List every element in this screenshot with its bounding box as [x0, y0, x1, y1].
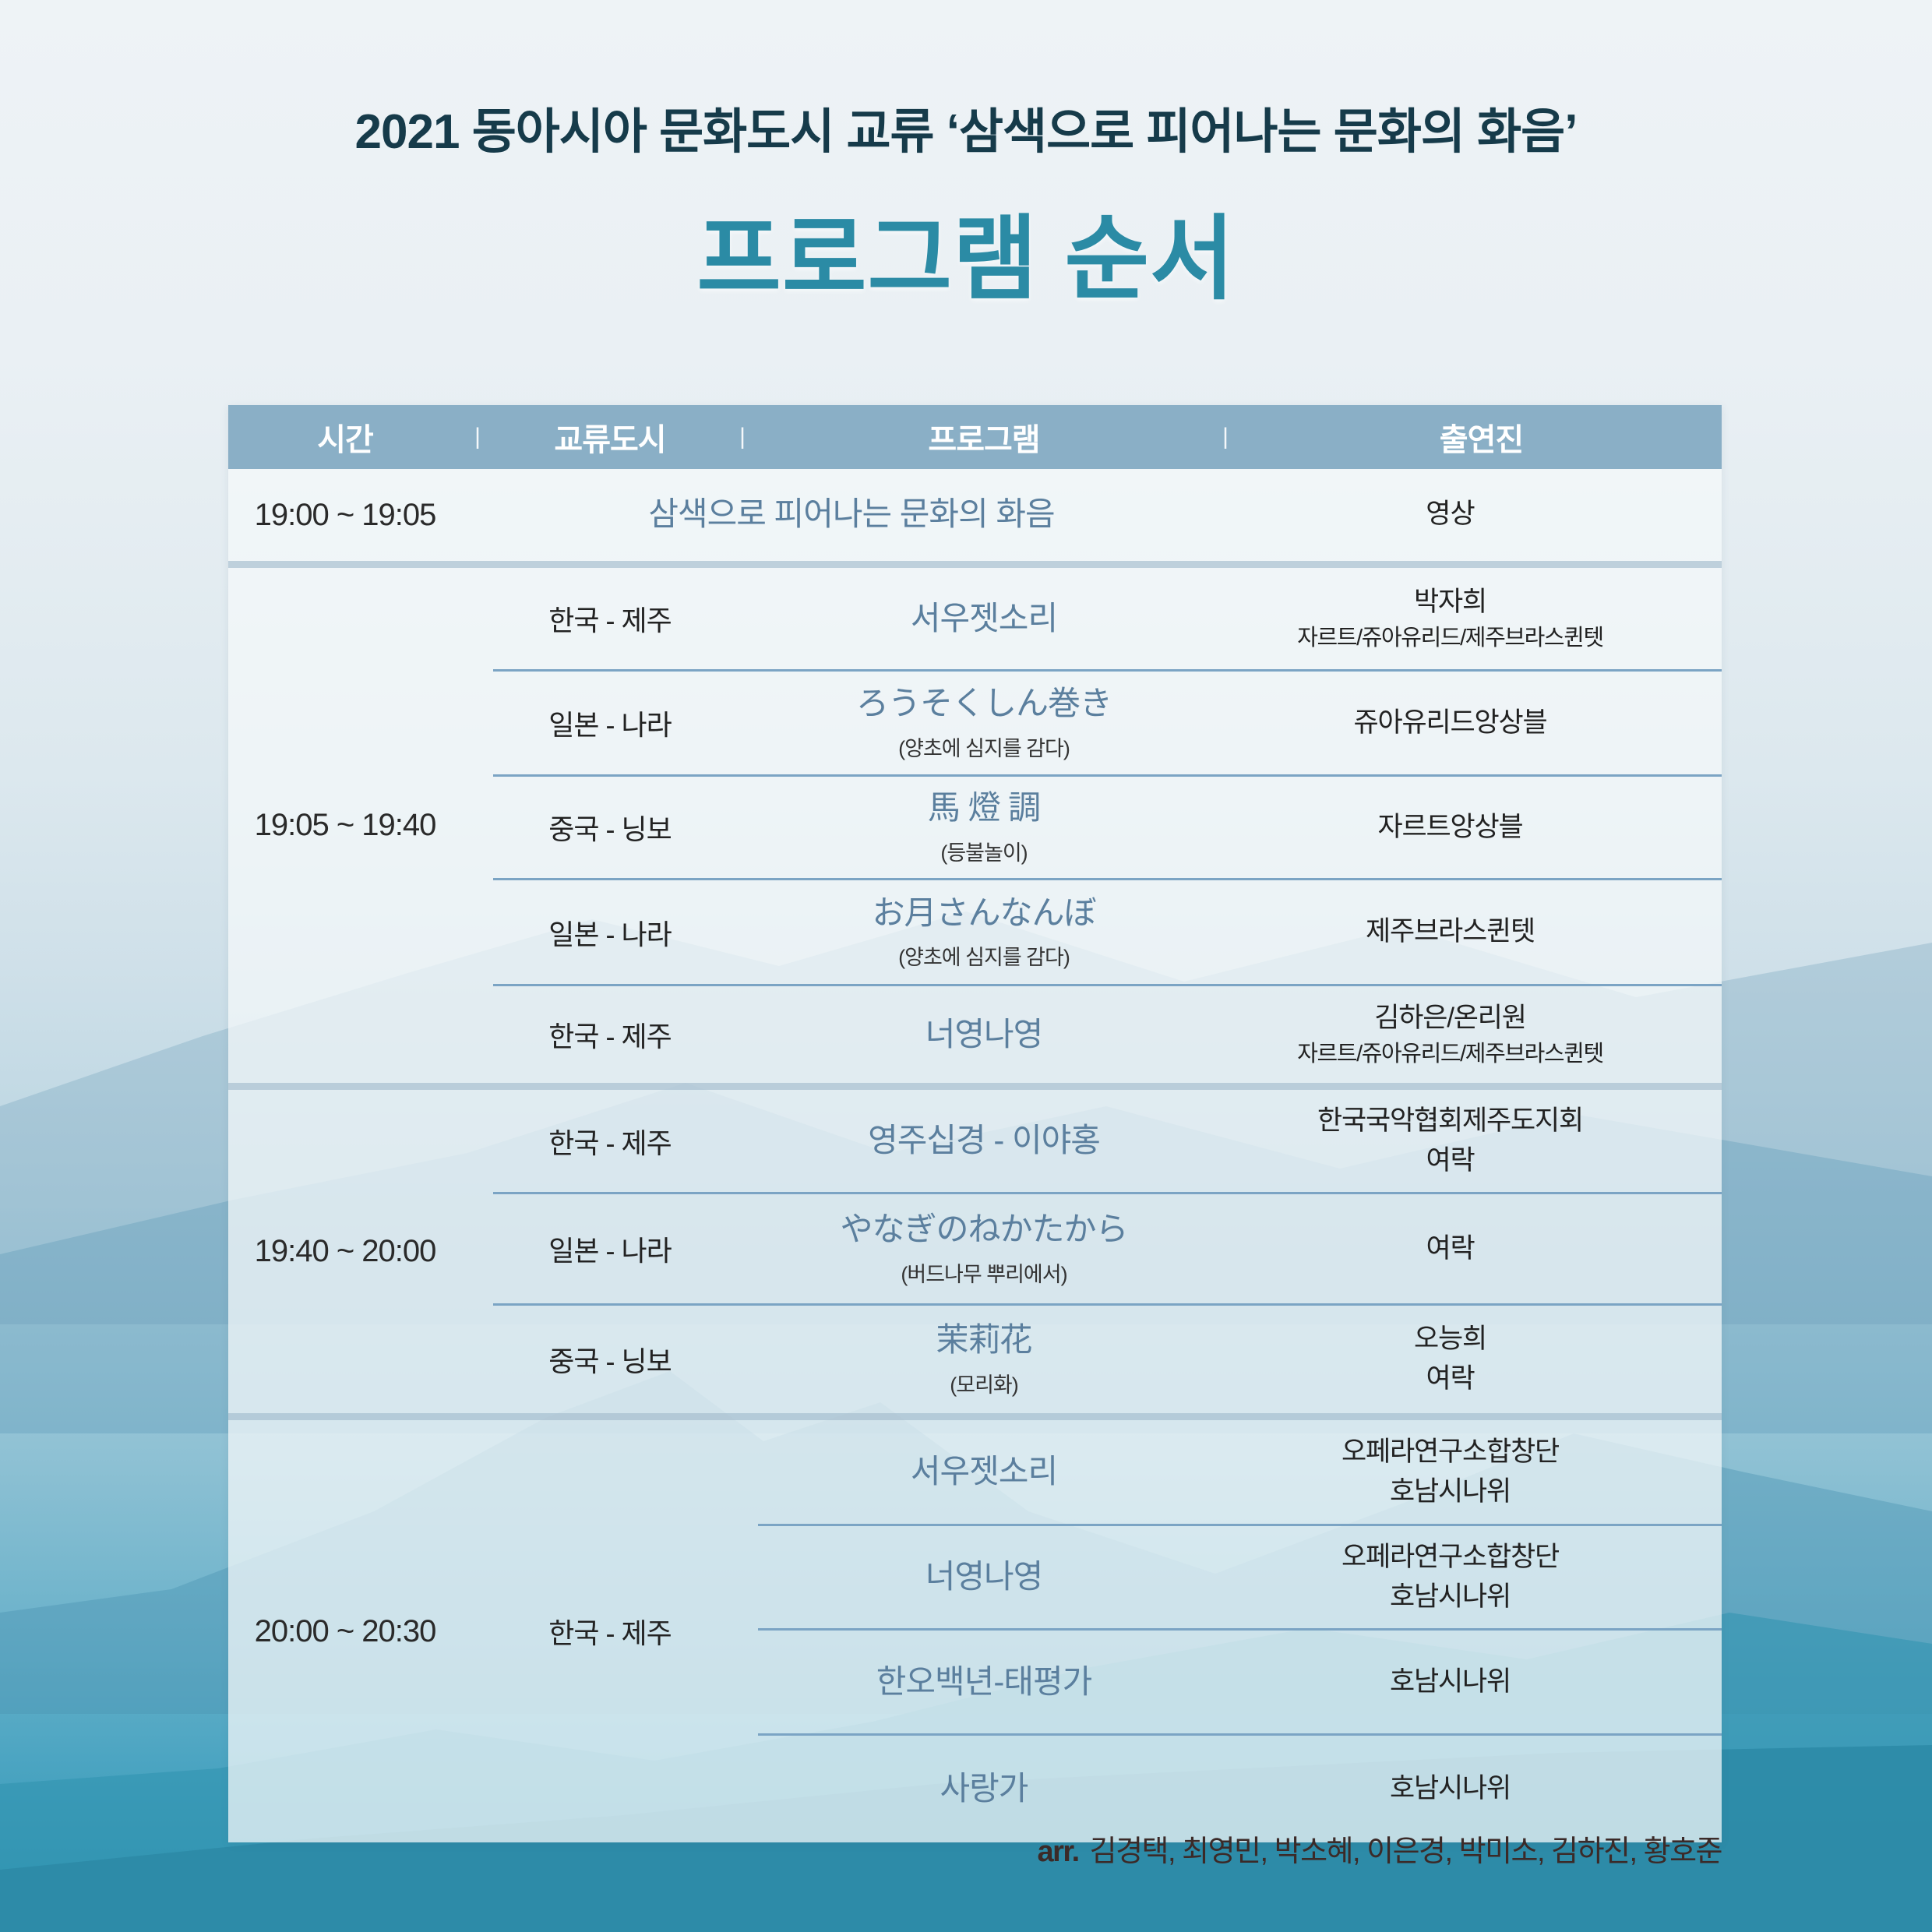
cast-line: 제주브라스퀸텟: [1366, 912, 1535, 952]
spacer: [462, 568, 493, 1083]
spacer: [727, 880, 758, 984]
spacer: [727, 986, 758, 1083]
cell-program: 삼색으로 피어나는 문화의 화음: [493, 469, 1210, 554]
program-title: 馬 燈 調: [928, 788, 1040, 827]
cell-cast: 오페라연구소합창단 호남시나위: [1210, 1420, 1690, 1524]
table-row: 중국 - 닝보 馬 燈 調 (등불놀이) 자르트앙상블: [493, 777, 1722, 880]
table-row: 한오백년-태평가 호남시나위: [758, 1631, 1722, 1736]
cell-city: 일본 - 나라: [493, 672, 727, 774]
cast-line: 여락: [1426, 1229, 1474, 1269]
section-rows: 삼색으로 피어나는 문화의 화음 영상: [493, 469, 1722, 561]
table-row: 너영나영 오페라연구소합창단 호남시나위: [758, 1526, 1722, 1631]
cast-line: 오페라연구소합창단: [1341, 1538, 1559, 1578]
cell-city: 일본 - 나라: [493, 1194, 727, 1303]
program-subtitle: (버드나무 뿌리에서): [901, 1257, 1066, 1288]
spacer: [727, 568, 758, 669]
spacer: [727, 1420, 758, 1842]
program-subtitle: (양초에 심지를 감다): [898, 940, 1070, 971]
table-row: 일본 - 나라 やなぎのねかたから (버드나무 뿌리에서) 여락: [493, 1194, 1722, 1306]
cell-program: 서우젯소리: [758, 568, 1210, 669]
cast-line: 자르트/쥬아유리드/제주브라스퀸텟: [1297, 1038, 1603, 1070]
section-rows: 서우젯소리 오페라연구소합창단 호남시나위 너영나영 오페라연구소합창단: [758, 1420, 1722, 1842]
spacer: [462, 469, 493, 561]
table-row: 서우젯소리 오페라연구소합창단 호남시나위: [758, 1420, 1722, 1526]
program-title: 너영나영: [925, 1015, 1043, 1054]
cell-cast: 오페라연구소합창단 호남시나위: [1210, 1526, 1690, 1628]
table-section: 19:40 ~ 20:00 한국 - 제주 영주십경 - 이야홍 한국국악협회제…: [228, 1090, 1722, 1420]
cell-program: 서우젯소리: [758, 1420, 1210, 1524]
cell-program: お月さんなんぼ (양초에 심지를 감다): [758, 880, 1210, 984]
program-title: 서우젯소리: [911, 599, 1057, 638]
cell-cast: 제주브라스퀸텟: [1210, 880, 1690, 984]
poster-canvas: 2021 동아시아 문화도시 교류 ‘삼색으로 피어나는 문화의 화음’ 프로그…: [0, 0, 1932, 1932]
program-subtitle: (등불놀이): [940, 836, 1027, 866]
cell-city: 한국 - 제주: [493, 568, 727, 669]
cast-line: 한국국악협회제주도지회: [1317, 1102, 1583, 1141]
program-title: お月さんなんぼ: [872, 894, 1095, 933]
section-rows: 한국 - 제주 영주십경 - 이야홍 한국국악협회제주도지회 여락 일본 - 나…: [493, 1090, 1722, 1413]
cell-city: 한국 - 제주: [493, 986, 727, 1083]
cell-program: 너영나영: [758, 1526, 1210, 1628]
header-divider-2: |: [727, 424, 758, 450]
spacer: [727, 672, 758, 774]
program-table: 시간 | 교류도시 | 프로그램 | 출연진 19:00 ~ 19:05 삼색으…: [228, 405, 1722, 1842]
spacer: [727, 1306, 758, 1413]
cast-line: 호남시나위: [1390, 1578, 1511, 1617]
cast-line: 여락: [1426, 1141, 1474, 1181]
program-subtitle: (모리화): [950, 1368, 1018, 1398]
header-divider-3: |: [1210, 424, 1241, 450]
cast-line: 호남시나위: [1390, 1769, 1511, 1809]
cast-line: 오페라연구소합창단: [1341, 1433, 1559, 1472]
table-section: 20:00 ~ 20:30 한국 - 제주 서우젯소리 오페라연구소합창단 호남…: [228, 1420, 1722, 1842]
cell-cast: 여락: [1210, 1194, 1690, 1303]
table-row: 중국 - 닝보 茉莉花 (모리화) 오능희 여락: [493, 1306, 1722, 1413]
spacer: [462, 1090, 493, 1413]
page-title-line1: 2021 동아시아 문화도시 교류 ‘삼색으로 피어나는 문화의 화음’: [0, 92, 1932, 162]
column-header-time: 시간: [228, 414, 462, 460]
cell-program: 한오백년-태평가: [758, 1631, 1210, 1733]
table-row: 한국 - 제주 영주십경 - 이야홍 한국국악협회제주도지회 여락: [493, 1090, 1722, 1194]
cell-city: 한국 - 제주: [493, 1090, 727, 1192]
section-time: 20:00 ~ 20:30: [228, 1420, 462, 1842]
cell-cast: 영상: [1210, 469, 1690, 554]
cast-line: 호남시나위: [1390, 1662, 1511, 1702]
section-rows: 한국 - 제주 서우젯소리 박자희 자르트/쥬아유리드/제주브라스퀸텟 일본 -…: [493, 568, 1722, 1083]
cell-program: 너영나영: [758, 986, 1210, 1083]
cell-cast: 김하은/온리원 자르트/쥬아유리드/제주브라스퀸텟: [1210, 986, 1690, 1083]
arr-credits: 김경택, 최영민, 박소혜, 이은경, 박미소, 김하진, 황호준: [1090, 1835, 1722, 1868]
program-title: やなぎのねかたから: [840, 1210, 1127, 1249]
cell-cast: 호남시나위: [1210, 1631, 1690, 1733]
table-section: 19:05 ~ 19:40 한국 - 제주 서우젯소리 박자희 자르트/쥬아유리…: [228, 568, 1722, 1090]
table-header-row: 시간 | 교류도시 | 프로그램 | 출연진: [228, 405, 1722, 469]
program-title: 너영나영: [925, 1557, 1043, 1596]
cell-program: ろうそくしん巻き (양초에 심지를 감다): [758, 672, 1210, 774]
section-time: 19:00 ~ 19:05: [228, 469, 462, 561]
cell-program: 영주십경 - 이야홍: [758, 1090, 1210, 1192]
section-time: 19:40 ~ 20:00: [228, 1090, 462, 1413]
table-row: 한국 - 제주 너영나영 김하은/온리원 자르트/쥬아유리드/제주브라스퀸텟: [493, 986, 1722, 1083]
cell-program: やなぎのねかたから (버드나무 뿌리에서): [758, 1194, 1210, 1303]
table-body: 19:00 ~ 19:05 삼색으로 피어나는 문화의 화음 영상 19:05 …: [228, 469, 1722, 1842]
cell-city: 중국 - 닝보: [493, 1306, 727, 1413]
arrangement-credit: arr.김경택, 최영민, 박소혜, 이은경, 박미소, 김하진, 황호준: [0, 1827, 1722, 1870]
column-header-program: 프로그램: [758, 414, 1210, 460]
cast-line: 오능희: [1414, 1320, 1486, 1359]
cell-city: 일본 - 나라: [493, 880, 727, 984]
cast-line: 박자희: [1414, 583, 1486, 622]
cast-line: 여락: [1426, 1359, 1474, 1399]
header-divider-1: |: [462, 424, 493, 450]
spacer: [462, 1420, 493, 1842]
cell-cast: 쥬아유리드앙상블: [1210, 672, 1690, 774]
cast-line: 쥬아유리드앙상블: [1353, 703, 1546, 743]
cell-city: 중국 - 닝보: [493, 777, 727, 878]
cast-line: 호남시나위: [1390, 1472, 1511, 1512]
page-title-line2: 프로그램 순서: [0, 184, 1932, 317]
program-title: 茉莉花: [936, 1320, 1031, 1359]
cell-city-merged: 한국 - 제주: [493, 1420, 727, 1842]
poster-title-block: 2021 동아시아 문화도시 교류 ‘삼색으로 피어나는 문화의 화음’ 프로그…: [0, 92, 1932, 317]
cell-program: 茉莉花 (모리화): [758, 1306, 1210, 1413]
program-title: 서우젯소리: [911, 1452, 1057, 1491]
table-row: 일본 - 나라 ろうそくしん巻き (양초에 심지를 감다) 쥬아유리드앙상블: [493, 672, 1722, 777]
program-subtitle: (양초에 심지를 감다): [898, 732, 1070, 762]
cast-line: 자르트/쥬아유리드/제주브라스퀸텟: [1297, 622, 1603, 654]
arr-label: arr.: [1037, 1835, 1078, 1868]
column-header-cast: 출연진: [1241, 414, 1722, 460]
spacer: [727, 1090, 758, 1192]
table-section: 19:00 ~ 19:05 삼색으로 피어나는 문화의 화음 영상: [228, 469, 1722, 568]
spacer: [727, 1194, 758, 1303]
program-title: 영주십경 - 이야홍: [868, 1121, 1100, 1160]
cell-cast: 오능희 여락: [1210, 1306, 1690, 1413]
table-row: 한국 - 제주 서우젯소리 박자희 자르트/쥬아유리드/제주브라스퀸텟: [493, 568, 1722, 672]
column-header-city: 교류도시: [493, 414, 727, 460]
cast-line: 자르트앙상블: [1377, 808, 1522, 848]
cell-cast: 한국국악협회제주도지회 여락: [1210, 1090, 1690, 1192]
table-row: 일본 - 나라 お月さんなんぼ (양초에 심지를 감다) 제주브라스퀸텟: [493, 880, 1722, 986]
section-time: 19:05 ~ 19:40: [228, 568, 462, 1083]
program-title: ろうそくしん巻き: [856, 684, 1112, 723]
program-title: 사랑가: [940, 1769, 1028, 1808]
spacer: [727, 777, 758, 878]
table-row: 삼색으로 피어나는 문화의 화음 영상: [493, 469, 1722, 554]
cell-program: 馬 燈 調 (등불놀이): [758, 777, 1210, 878]
cell-cast: 박자희 자르트/쥬아유리드/제주브라스퀸텟: [1210, 568, 1690, 669]
cell-cast: 자르트앙상블: [1210, 777, 1690, 878]
cast-line: 김하은/온리원: [1374, 999, 1526, 1038]
program-title: 한오백년-태평가: [876, 1662, 1091, 1701]
